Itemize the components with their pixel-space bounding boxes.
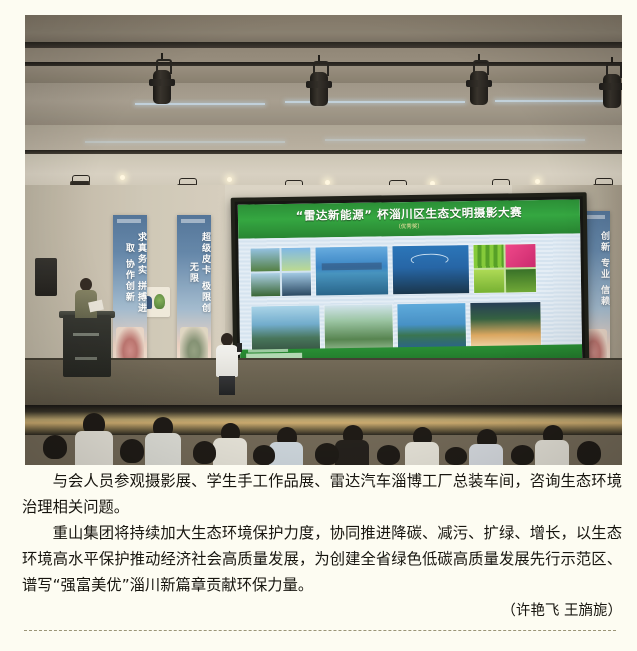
- footer-divider: [24, 630, 616, 631]
- photo-cell: [392, 245, 469, 294]
- article-paragraph-2: 重山集团将持续加大生态环境保护力度，协同推进降碳、减污、扩绿、增长，以生态环境高…: [22, 520, 622, 598]
- speaker-at-podium: [75, 278, 97, 318]
- banner-left-1-text: 求真务实 拼搏进取 协作创新: [113, 231, 147, 315]
- audience-person: [335, 440, 369, 465]
- audience-person: [469, 444, 503, 465]
- ceiling-light-strip-5: [325, 139, 585, 141]
- photo-cell: [251, 305, 320, 352]
- photo-cell: [473, 244, 536, 293]
- photo-cell: [315, 246, 388, 295]
- audience-person: [445, 447, 467, 465]
- photo-cell: [250, 248, 311, 297]
- ceiling-light-strip-4: [85, 141, 285, 143]
- audience-person: [377, 445, 400, 465]
- audience-person: [193, 441, 216, 464]
- stage-spotlight-icon: [310, 61, 328, 107]
- stage-spotlight-icon: [153, 59, 171, 105]
- photo-cell: [324, 304, 393, 351]
- audience-area: [25, 405, 622, 465]
- led-display-screen: “雷达新能源” 杯淄川区生态文明摄影大赛 （优秀奖）: [231, 192, 590, 373]
- audience-person: [120, 439, 144, 463]
- stage-spotlight-icon: [603, 63, 621, 109]
- audience-person: [253, 445, 275, 465]
- audience-photographer: [215, 333, 239, 395]
- audience-person: [535, 440, 569, 465]
- screen-photo-grid: [238, 233, 582, 349]
- audience-person: [405, 442, 439, 465]
- ceiling-slab: [25, 15, 622, 45]
- audience-bench: [25, 405, 622, 435]
- audience-person: [213, 438, 247, 465]
- article-body: 与会人员参观摄影展、学生手工作品展、雷达汽车淄博工厂总装车间，咨询生态环境治理相…: [22, 468, 622, 624]
- audience-person: [75, 431, 113, 465]
- audience-person: [511, 445, 534, 465]
- photo-cell: [397, 303, 466, 350]
- audience-person: [145, 433, 181, 465]
- audience-person: [43, 435, 67, 459]
- wall-speaker-box: [35, 258, 57, 296]
- banner-left-1: 求真务实 拼搏进取 协作创新: [113, 215, 147, 367]
- audience-person: [315, 443, 339, 465]
- banner-left-2: 超级皮卡 极限创无限: [177, 215, 211, 367]
- ceiling-downlight-icon: [535, 179, 540, 184]
- article-byline: （许艳飞 王旓旎）: [22, 598, 622, 624]
- stage-spotlight-icon: [470, 60, 488, 106]
- audience-person: [577, 441, 601, 465]
- podium: [63, 315, 111, 377]
- banner-left-2-text: 超级皮卡 极限创无限: [177, 231, 211, 315]
- article-paragraph-1: 与会人员参观摄影展、学生手工作品展、雷达汽车淄博工厂总装车间，咨询生态环境治理相…: [22, 468, 622, 520]
- conference-hall-photo: 求真务实 拼搏进取 协作创新 超级皮卡 极限创无限 创新 专业 信赖 “雷达新能…: [25, 15, 622, 465]
- photo-scene: 求真务实 拼搏进取 协作创新 超级皮卡 极限创无限 创新 专业 信赖 “雷达新能…: [25, 15, 622, 465]
- photo-cell: [470, 302, 541, 349]
- ceiling-downlight-icon: [227, 177, 232, 182]
- ceiling-band-4: [25, 125, 622, 151]
- ceiling-light-strip-3: [495, 100, 615, 102]
- ceiling-downlight-icon: [120, 175, 125, 180]
